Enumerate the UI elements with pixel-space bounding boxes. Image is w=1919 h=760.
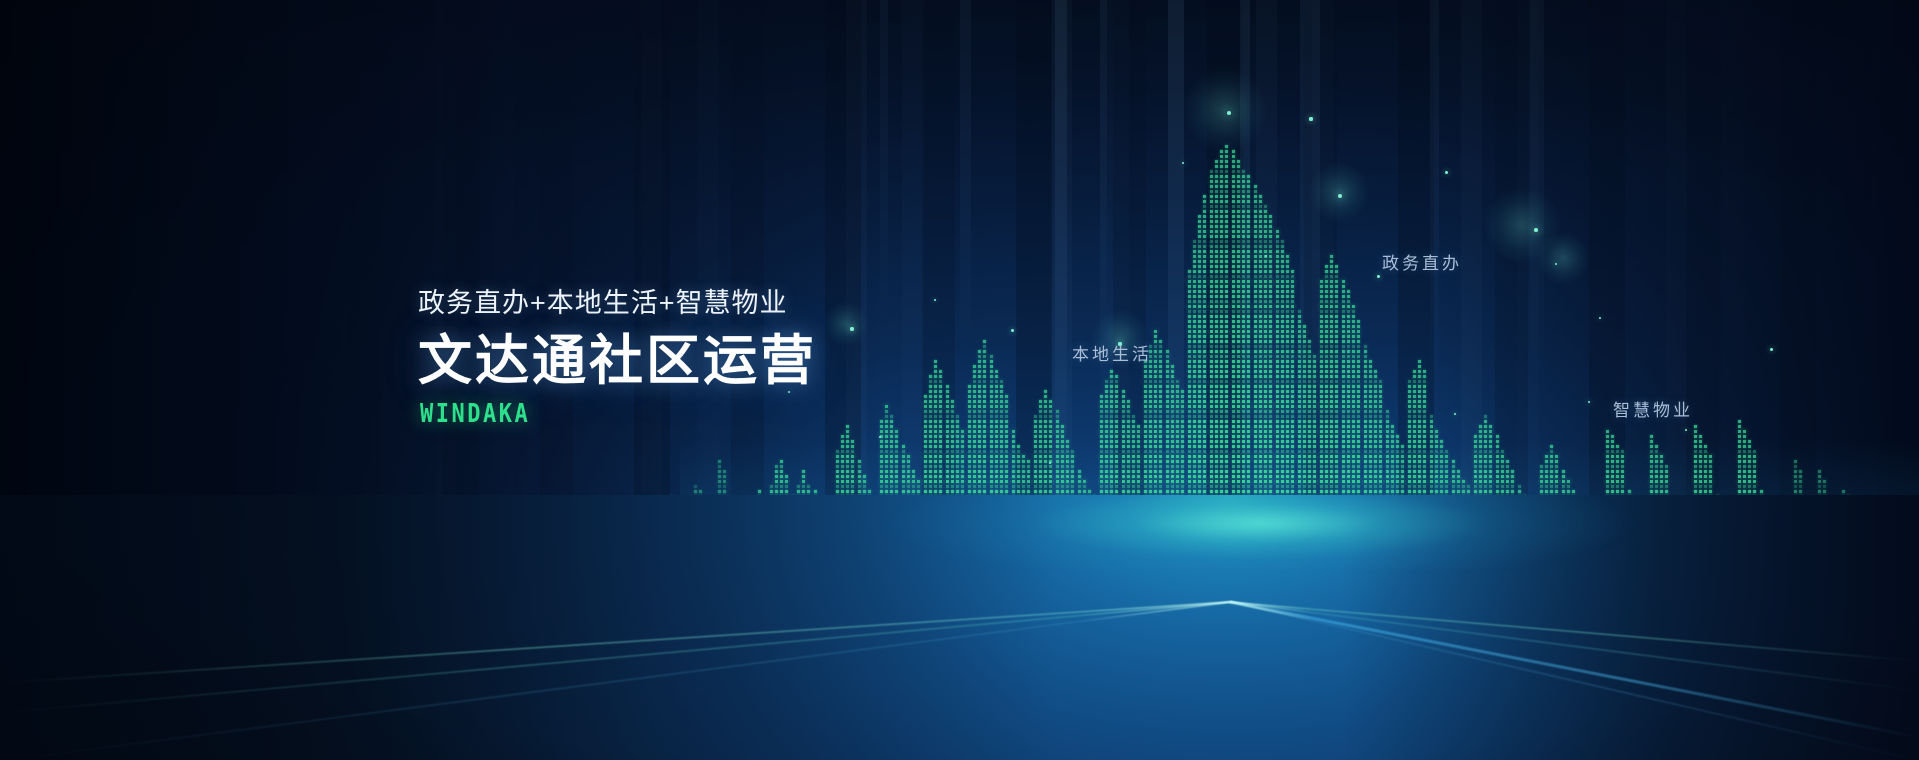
brand-wordmark: WINDAKA xyxy=(420,402,817,428)
horizon-glow xyxy=(880,495,1640,569)
city-tag-2: 本地生活 xyxy=(1072,340,1152,365)
city-tag-3: 智慧物业 xyxy=(1613,396,1693,421)
city-tag-1: 政务直办 xyxy=(1382,249,1462,274)
hero-title: 文达通社区运营 xyxy=(418,334,817,388)
perspective-ground xyxy=(0,495,1919,760)
hero-banner: 政务直办本地生活智慧物业 政务直办+本地生活+智慧物业 文达通社区运营 WIND… xyxy=(0,0,1919,760)
headline-block: 政务直办+本地生活+智慧物业 文达通社区运营 WINDAKA xyxy=(418,290,817,424)
hero-subtitle: 政务直办+本地生活+智慧物业 xyxy=(418,290,817,317)
